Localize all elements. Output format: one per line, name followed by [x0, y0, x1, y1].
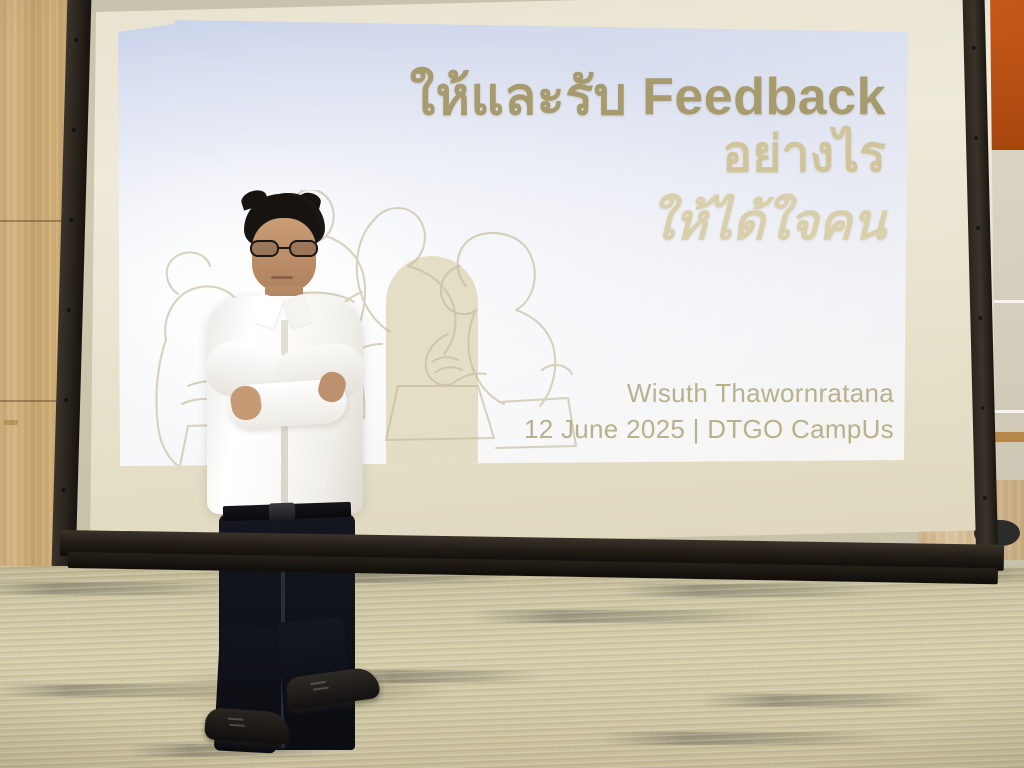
ceiling-light-strip-lower: [994, 410, 1024, 413]
ceiling-light-strip-upper: [994, 300, 1024, 303]
screen-bottom-assembly: [38, 0, 998, 590]
cabinet-handle: [4, 420, 18, 425]
carpet-floor: [0, 566, 1024, 768]
presentation-photo-scene: ให้และรับ Feedback อย่างไร ให้ได้ใจคน Wi…: [0, 0, 1024, 768]
